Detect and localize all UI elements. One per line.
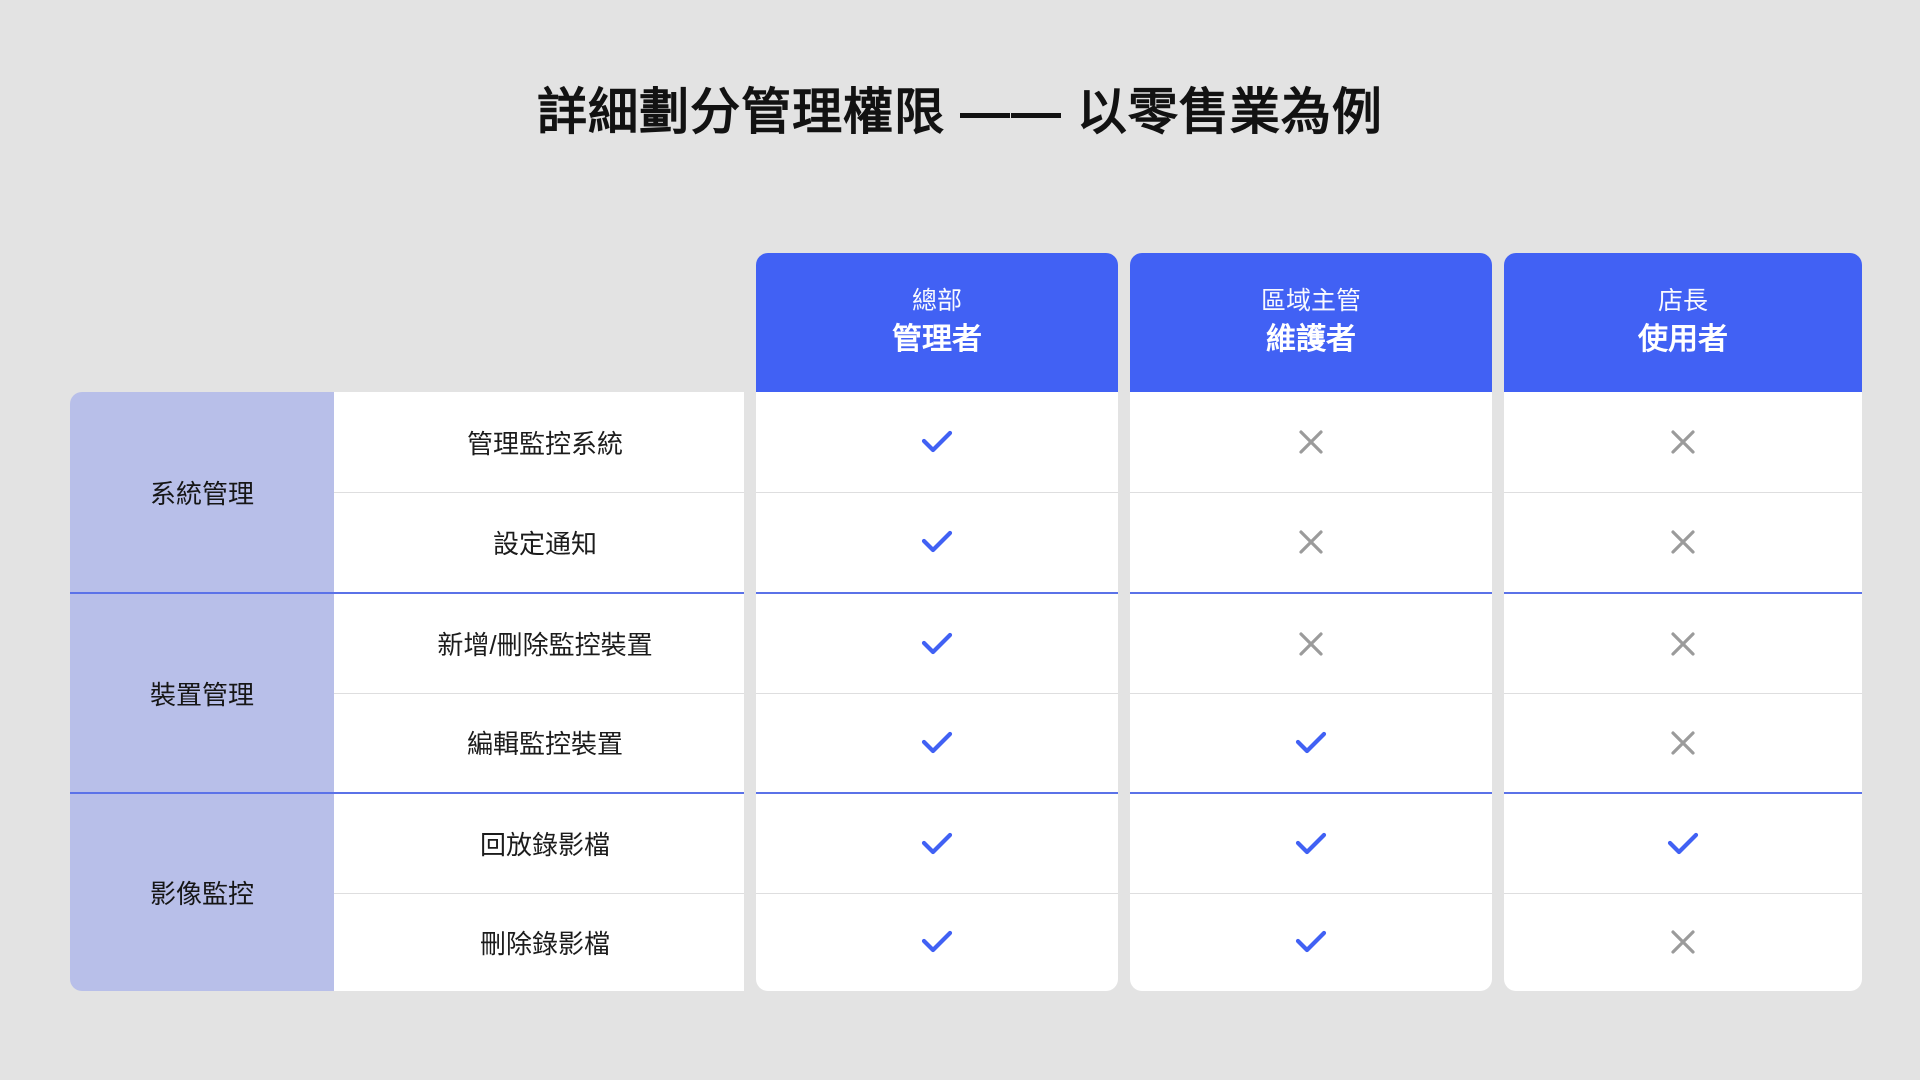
row-separator-2-r0 bbox=[756, 693, 1118, 694]
mark-cell-5-1[interactable] bbox=[1130, 893, 1492, 991]
allowed-check-icon bbox=[915, 520, 959, 564]
allowed-check-icon bbox=[1289, 920, 1333, 964]
mark-cell-3-0[interactable] bbox=[756, 693, 1118, 792]
mark-cell-1-0[interactable] bbox=[756, 492, 1118, 592]
denied-cross-icon bbox=[1665, 424, 1701, 460]
mark-cell-3-1[interactable] bbox=[1130, 693, 1492, 792]
group-divider-1 bbox=[70, 792, 1862, 794]
denied-cross-icon bbox=[1665, 924, 1701, 960]
row-separator-4-r1 bbox=[1130, 893, 1492, 894]
category-cell-2: 影像監控 bbox=[70, 794, 334, 991]
allowed-check-icon bbox=[915, 622, 959, 666]
page-title: 詳細劃分管理權限 —— 以零售業為例 bbox=[0, 72, 1920, 144]
feature-cell-4: 回放錄影檔 bbox=[334, 794, 756, 893]
role-header-1[interactable]: 區域主管 維護者 bbox=[1130, 253, 1492, 392]
permission-matrix: 總部 管理者 區域主管 維護者 店長 使用者 系統管理 裝置管理 影像監控 管理… bbox=[70, 253, 1848, 991]
row-separator-2-r2 bbox=[1504, 693, 1862, 694]
role-header-main-1: 維護者 bbox=[1266, 321, 1356, 359]
mark-cell-0-0[interactable] bbox=[756, 392, 1118, 492]
mark-cell-1-1[interactable] bbox=[1130, 492, 1492, 592]
row-separator-4-feat bbox=[334, 893, 756, 894]
feature-cell-0: 管理監控系統 bbox=[334, 392, 756, 492]
mark-cell-4-0[interactable] bbox=[756, 794, 1118, 893]
denied-cross-icon bbox=[1293, 524, 1329, 560]
column-gutter-2 bbox=[1492, 253, 1504, 991]
row-separator-0-r1 bbox=[1130, 492, 1492, 493]
allowed-check-icon bbox=[1661, 822, 1705, 866]
group-divider-0 bbox=[70, 592, 1862, 594]
allowed-check-icon bbox=[915, 420, 959, 464]
row-separator-4-r2 bbox=[1504, 893, 1862, 894]
allowed-check-icon bbox=[915, 920, 959, 964]
mark-cell-0-1[interactable] bbox=[1130, 392, 1492, 492]
mark-cell-5-0[interactable] bbox=[756, 893, 1118, 991]
mark-cell-5-2[interactable] bbox=[1504, 893, 1862, 991]
row-separator-0-r0 bbox=[756, 492, 1118, 493]
mark-cell-2-2[interactable] bbox=[1504, 594, 1862, 693]
role-header-2[interactable]: 店長 使用者 bbox=[1504, 253, 1862, 392]
feature-cell-3: 編輯監控裝置 bbox=[334, 693, 756, 792]
row-separator-0-feat bbox=[334, 492, 756, 493]
denied-cross-icon bbox=[1293, 424, 1329, 460]
role-header-0[interactable]: 總部 管理者 bbox=[756, 253, 1118, 392]
mark-cell-1-2[interactable] bbox=[1504, 492, 1862, 592]
row-separator-2-r1 bbox=[1130, 693, 1492, 694]
denied-cross-icon bbox=[1665, 524, 1701, 560]
role-header-main-2: 使用者 bbox=[1638, 321, 1728, 359]
denied-cross-icon bbox=[1665, 725, 1701, 761]
mark-cell-4-1[interactable] bbox=[1130, 794, 1492, 893]
column-gutter-0 bbox=[744, 253, 756, 991]
row-separator-4-r0 bbox=[756, 893, 1118, 894]
denied-cross-icon bbox=[1293, 626, 1329, 662]
mark-cell-4-2[interactable] bbox=[1504, 794, 1862, 893]
role-header-sub-2: 店長 bbox=[1658, 286, 1708, 317]
feature-cell-5: 刪除錄影檔 bbox=[334, 893, 756, 991]
row-separator-2-feat bbox=[334, 693, 756, 694]
allowed-check-icon bbox=[1289, 721, 1333, 765]
allowed-check-icon bbox=[1289, 822, 1333, 866]
allowed-check-icon bbox=[915, 721, 959, 765]
column-gutter-1 bbox=[1118, 253, 1130, 991]
denied-cross-icon bbox=[1665, 626, 1701, 662]
mark-cell-3-2[interactable] bbox=[1504, 693, 1862, 792]
category-cell-0: 系統管理 bbox=[70, 392, 334, 592]
allowed-check-icon bbox=[915, 822, 959, 866]
feature-cell-1: 設定通知 bbox=[334, 492, 756, 592]
mark-cell-0-2[interactable] bbox=[1504, 392, 1862, 492]
category-cell-1: 裝置管理 bbox=[70, 594, 334, 792]
mark-cell-2-1[interactable] bbox=[1130, 594, 1492, 693]
mark-cell-2-0[interactable] bbox=[756, 594, 1118, 693]
role-header-sub-1: 區域主管 bbox=[1261, 286, 1361, 317]
feature-cell-2: 新增/刪除監控裝置 bbox=[334, 594, 756, 693]
role-header-sub-0: 總部 bbox=[912, 286, 962, 317]
role-header-main-0: 管理者 bbox=[892, 321, 982, 359]
row-separator-0-r2 bbox=[1504, 492, 1862, 493]
